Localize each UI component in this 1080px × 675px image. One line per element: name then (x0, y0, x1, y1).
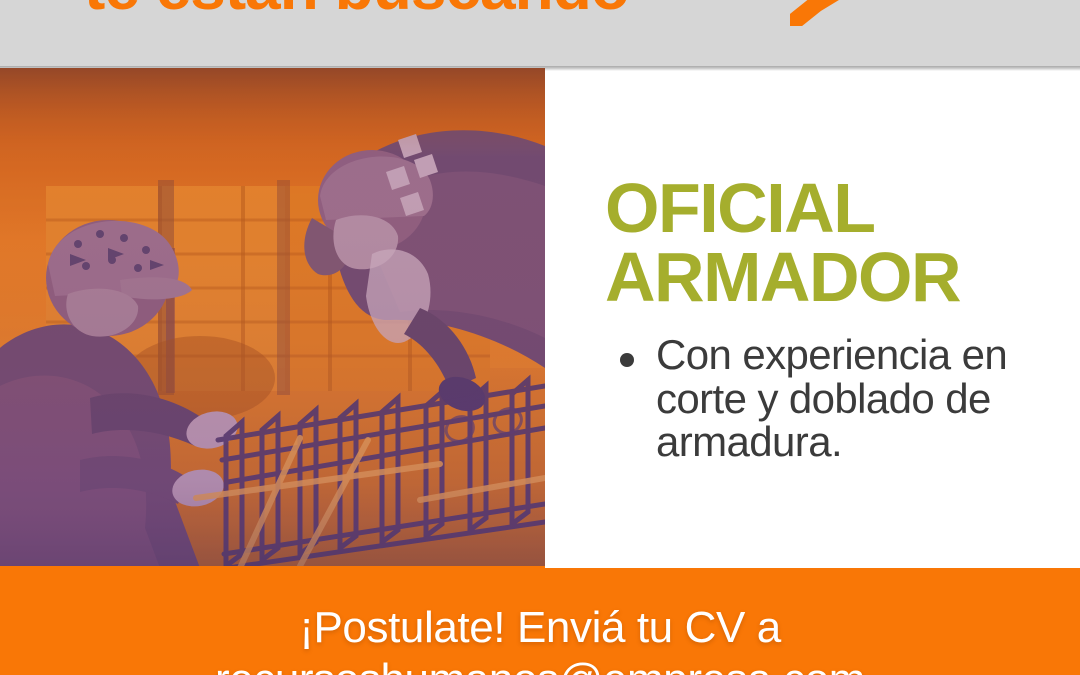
job-posting-poster: te están buscando (0, 0, 1080, 675)
cta-line-1: ¡Postulate! Enviá tu CV a (0, 602, 1080, 654)
job-details-panel: OFICIAL ARMADOR Con experiencia en corte… (545, 71, 1080, 568)
header-headline: te están buscando (84, 0, 629, 21)
cta-banner: ¡Postulate! Enviá tu CV a recursoshumano… (0, 568, 1080, 675)
requirement-list-item: Con experiencia en corte y doblado de ar… (620, 333, 1070, 464)
cta-line-2: recursoshumanos@empresa.com (0, 654, 1080, 675)
check-mark-icon (790, 0, 868, 26)
cta-text: ¡Postulate! Enviá tu CV a recursoshumano… (0, 602, 1080, 675)
job-title-line-1: OFICIAL (605, 174, 960, 243)
requirement-text: Con experiencia en corte y doblado de ar… (656, 333, 1070, 464)
job-title-line-2: ARMADOR (605, 243, 960, 312)
worker-photo (0, 68, 545, 568)
bullet-dot-icon (620, 353, 634, 367)
job-title: OFICIAL ARMADOR (605, 174, 960, 313)
